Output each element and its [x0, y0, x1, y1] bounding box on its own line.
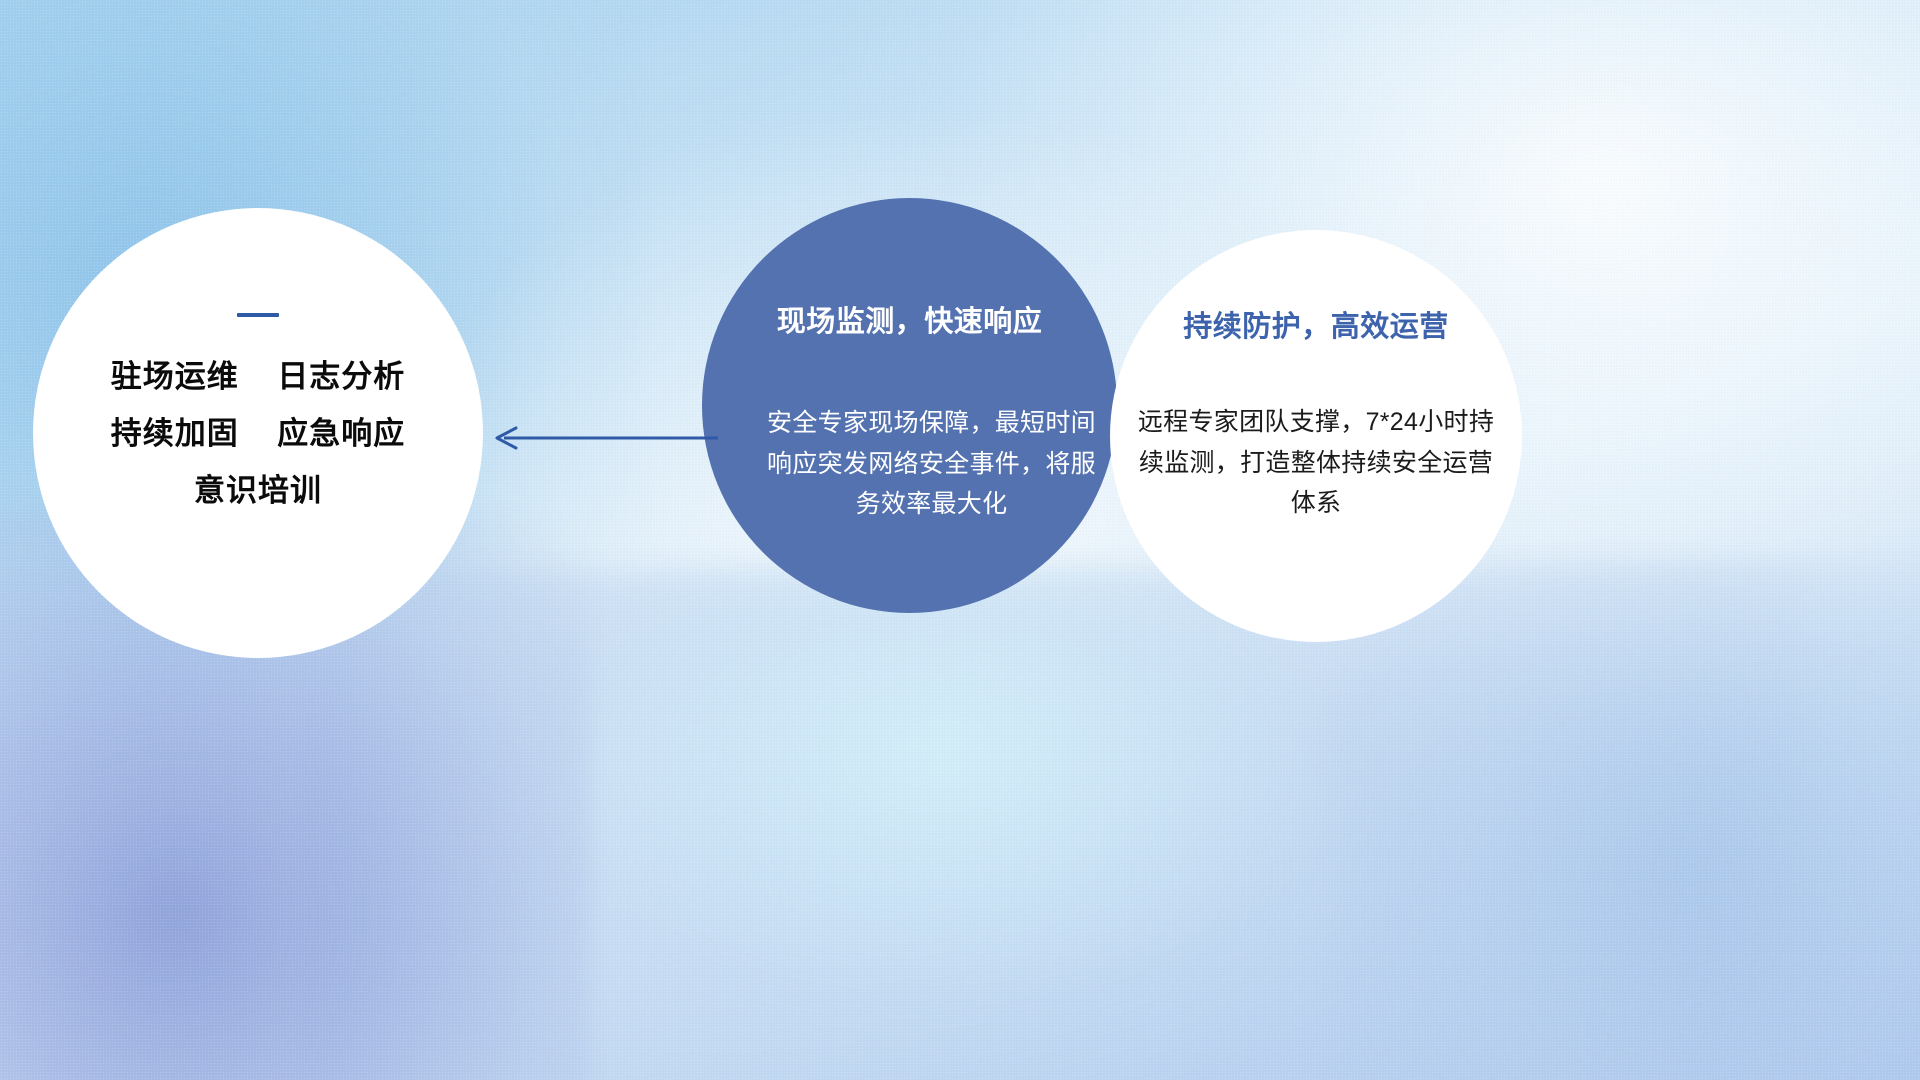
onsite-monitoring-title: 现场监测，快速响应	[702, 298, 1117, 340]
arrow-left-icon	[480, 418, 720, 458]
capability-line-3: 意识培训	[33, 475, 483, 506]
capability-line-1: 驻场运维 日志分析	[33, 361, 483, 392]
onsite-monitoring-body: 安全专家现场保障，最短时间响应突发网络安全事件，将服务效率最大化	[764, 403, 1099, 525]
continuous-protection-title: 持续防护，高效运营	[1110, 303, 1522, 345]
continuous-protection-circle[interactable]: 持续防护，高效运营 远程专家团队支撑，7*24小时持续监测，打造整体持续安全运营…	[1110, 230, 1522, 642]
capability-content: 驻场运维 日志分析 持续加固 应急响应 意识培训	[33, 313, 483, 506]
slide-canvas: 驻场运维 日志分析 持续加固 应急响应 意识培训 现场监测，快速响应 安全专家现…	[0, 0, 1920, 1080]
capability-line-2: 持续加固 应急响应	[33, 418, 483, 449]
horizontal-dash-icon	[237, 313, 279, 317]
capability-circle[interactable]: 驻场运维 日志分析 持续加固 应急响应 意识培训	[33, 208, 483, 658]
continuous-protection-body: 远程专家团队支撑，7*24小时持续监测，打造整体持续安全运营体系	[1132, 402, 1500, 524]
onsite-monitoring-circle[interactable]: 现场监测，快速响应 安全专家现场保障，最短时间响应突发网络安全事件，将服务效率最…	[702, 198, 1117, 613]
